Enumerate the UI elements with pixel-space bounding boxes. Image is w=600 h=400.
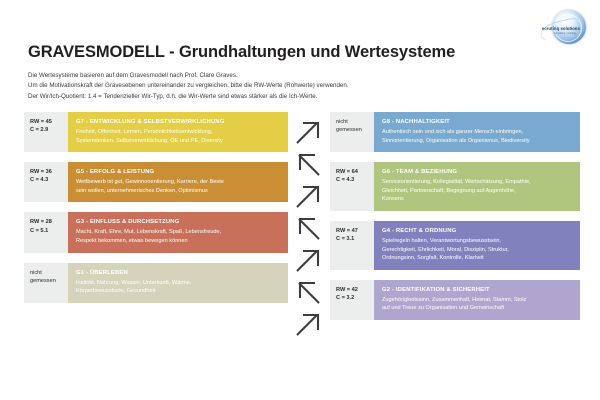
- rw-value-g8: nicht: [336, 118, 369, 126]
- right-column: nicht gemessen G8 - NACHHALTIGKEIT Authe…: [330, 112, 580, 330]
- level-band-g8: G8 - NACHHALTIGKEIT Authentisch sein und…: [374, 112, 580, 152]
- level-row-g4: RW = 47 C = 3.1 G4 - RECHT & ORDNUNG Spi…: [330, 221, 580, 270]
- level-desc-g1: Instinkt, Nahrung, Wasser, Unterkunft, W…: [76, 279, 281, 296]
- desc-line: Ordnungsinn, Sorgfalt, Kontrolle, Klarhe…: [382, 254, 573, 263]
- level-desc-g7: Freiheit, Offenheit, Lernen, Persönlichk…: [76, 128, 281, 145]
- score-cell-g8: nicht gemessen: [330, 112, 374, 152]
- intro-line-1: Die Wertesysteme basieren auf dem Graves…: [28, 71, 568, 81]
- level-title-g5: G5 - ERFOLG & LEISTUNG: [76, 168, 281, 177]
- desc-line: Authentisch sein und sich als ganzer Men…: [382, 128, 573, 137]
- logo-wordmark: scrutinq solutions: [542, 26, 580, 31]
- c-value-g6: C = 4.3: [336, 176, 369, 184]
- level-row-g7: RW = 45 C = 2.9 G7 - ENTWICKLUNG & SELBS…: [24, 112, 288, 152]
- desc-line: Instinkt, Nahrung, Wasser, Unterkunft, W…: [76, 279, 281, 288]
- score-cell-g3: RW = 28 C = 5.1: [24, 212, 68, 252]
- score-cell-g5: RW = 36 C = 4.3: [24, 162, 68, 202]
- c-value-g2: C = 3.2: [336, 294, 369, 302]
- rw-value-g6: RW = 64: [336, 168, 369, 176]
- score-cell-g1: nicht gemessen: [24, 263, 68, 303]
- arrow-up-right-icon: [294, 246, 324, 276]
- level-title-g4: G4 - RECHT & ORDNUNG: [382, 227, 573, 236]
- intro-paragraph: Die Wertesysteme basieren auf dem Graves…: [28, 71, 568, 102]
- desc-line: Sinnorientierung, Organisation als Organ…: [382, 137, 573, 146]
- score-cell-g6: RW = 64 C = 4.3: [330, 162, 374, 211]
- rw-value-g7: RW = 45: [30, 118, 63, 126]
- desc-line: Konsens: [382, 195, 573, 204]
- c-value-g1: gemessen: [30, 277, 63, 285]
- desc-line: auf und Treue zu Organisation und Gemein…: [382, 304, 573, 313]
- level-row-g2: RW = 42 C = 3.2 G2 - IDENTIFIKATION & SI…: [330, 280, 580, 320]
- desc-line: Gerechtigkeit, Ehrlichkeit, Moral, Diszi…: [382, 246, 573, 255]
- c-value-g3: C = 5.1: [30, 227, 63, 235]
- desc-line: Respekt bekommen, etwas bewegen können: [76, 237, 281, 246]
- level-band-g1: G1 - ÜBERLEBEN Instinkt, Nahrung, Wasser…: [68, 263, 288, 303]
- level-band-g2: G2 - IDENTIFIKATION & SICHERHEIT Zugehör…: [374, 280, 580, 320]
- c-value-g4: C = 3.1: [336, 235, 369, 243]
- level-title-g6: G6 - TEAM & BEZIEHUNG: [382, 168, 573, 177]
- left-column: RW = 45 C = 2.9 G7 - ENTWICKLUNG & SELBS…: [24, 112, 288, 313]
- score-cell-g2: RW = 42 C = 3.2: [330, 280, 374, 320]
- rw-value-g5: RW = 36: [30, 168, 63, 176]
- level-desc-g4: Spielregeln halten, Verantwortungsbewuss…: [382, 237, 573, 263]
- desc-line: Körperbewusstsein, Gesundheit: [76, 287, 281, 296]
- rw-value-g4: RW = 47: [336, 227, 369, 235]
- level-band-g7: G7 - ENTWICKLUNG & SELBSTVERWIRKLICHUNG …: [68, 112, 288, 152]
- company-logo: scrutinq solutions consulting . training: [516, 8, 588, 46]
- desc-line: sein wollen, unternehmerisches Denken, O…: [76, 187, 281, 196]
- desc-line: Spielregeln halten, Verantwortungsbewuss…: [382, 237, 573, 246]
- intro-line-2: Um die Motivationskraft der Gravesebenen…: [28, 81, 568, 91]
- level-desc-g2: Zugehörigkeitssinn, Zusammenhalt, Heimat…: [382, 296, 573, 313]
- level-row-g5: RW = 36 C = 4.3 G5 - ERFOLG & LEISTUNG W…: [24, 162, 288, 202]
- desc-line: Freiheit, Offenheit, Lernen, Persönlichk…: [76, 128, 281, 137]
- arrow-up-right-icon: [294, 310, 324, 340]
- score-cell-g4: RW = 47 C = 3.1: [330, 221, 374, 270]
- arrow-up-left-icon: [294, 278, 324, 308]
- level-band-g6: G6 - TEAM & BEZIEHUNG Serviceorientierun…: [374, 162, 580, 211]
- desc-line: Zugehörigkeitssinn, Zusammenhalt, Heimat…: [382, 296, 573, 305]
- level-title-g8: G8 - NACHHALTIGKEIT: [382, 118, 573, 127]
- score-cell-g7: RW = 45 C = 2.9: [24, 112, 68, 152]
- level-desc-g8: Authentisch sein und sich als ganzer Men…: [382, 128, 573, 145]
- level-desc-g5: Wettbewerb ist gut, Gewinnorientierung, …: [76, 178, 281, 195]
- arrow-column: [294, 118, 330, 374]
- arrow-up-right-icon: [294, 118, 324, 148]
- level-band-g3: G3 - EINFLUSS & DURCHSETZUNG Macht, Kraf…: [68, 212, 288, 252]
- rw-value-g1: nicht: [30, 269, 63, 277]
- level-desc-g3: Macht, Kraft, Ehre, Mut, Lebenskraft, Sp…: [76, 228, 281, 245]
- logo-tagline: consulting . training: [554, 32, 576, 35]
- level-band-g5: G5 - ERFOLG & LEISTUNG Wettbewerb ist gu…: [68, 162, 288, 202]
- desc-line: Systemdenken, Selbstverwirklichung, OE u…: [76, 137, 281, 146]
- rw-value-g3: RW = 28: [30, 218, 63, 226]
- c-value-g5: C = 4.3: [30, 176, 63, 184]
- level-title-g2: G2 - IDENTIFIKATION & SICHERHEIT: [382, 286, 573, 295]
- level-title-g7: G7 - ENTWICKLUNG & SELBSTVERWIRKLICHUNG: [76, 118, 281, 127]
- desc-line: Gleichheit, Partnerschaft, Begegnung auf…: [382, 187, 573, 196]
- gravesmodell-poster: scrutinq solutions consulting . training…: [0, 0, 600, 400]
- desc-line: Macht, Kraft, Ehre, Mut, Lebenskraft, Sp…: [76, 228, 281, 237]
- level-row-g3: RW = 28 C = 5.1 G3 - EINFLUSS & DURCHSET…: [24, 212, 288, 252]
- arrow-up-left-icon: [294, 214, 324, 244]
- level-band-g4: G4 - RECHT & ORDNUNG Spielregeln halten,…: [374, 221, 580, 270]
- c-value-g8: gemessen: [336, 126, 369, 134]
- desc-line: Serviceorientierung, Kollegialität, Wert…: [382, 178, 573, 187]
- level-title-g1: G1 - ÜBERLEBEN: [76, 269, 281, 278]
- arrow-up-right-icon: [294, 182, 324, 212]
- level-row-g1: nicht gemessen G1 - ÜBERLEBEN Instinkt, …: [24, 263, 288, 303]
- level-title-g3: G3 - EINFLUSS & DURCHSETZUNG: [76, 218, 281, 227]
- c-value-g7: C = 2.9: [30, 126, 63, 134]
- intro-line-3: Der Wir/Ich-Quotient: 1.4 = Tendenzielle…: [28, 92, 568, 102]
- level-row-g8: nicht gemessen G8 - NACHHALTIGKEIT Authe…: [330, 112, 580, 152]
- rw-value-g2: RW = 42: [336, 286, 369, 294]
- level-row-g6: RW = 64 C = 4.3 G6 - TEAM & BEZIEHUNG Se…: [330, 162, 580, 211]
- page-title: GRAVESMODELL - Grundhaltungen und Wertes…: [28, 43, 455, 62]
- level-desc-g6: Serviceorientierung, Kollegialität, Wert…: [382, 178, 573, 204]
- arrow-up-left-icon: [294, 150, 324, 180]
- desc-line: Wettbewerb ist gut, Gewinnorientierung, …: [76, 178, 281, 187]
